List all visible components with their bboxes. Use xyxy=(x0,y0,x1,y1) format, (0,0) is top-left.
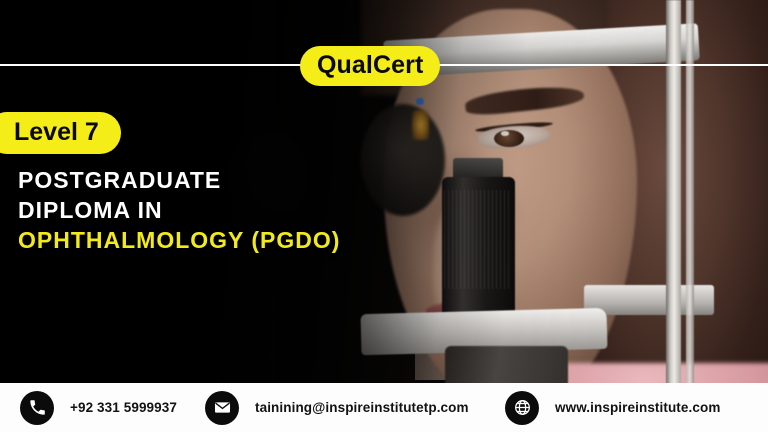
contact-footer: +92 331 5999937 tainining@inspireinstitu… xyxy=(0,383,768,432)
phone-number: +92 331 5999937 xyxy=(70,400,177,415)
email-address: tainining@inspireinstitutetp.com xyxy=(255,400,469,415)
promo-banner: + QualCert Level 7 POSTGRADUATE DIPLOMA … xyxy=(0,0,768,432)
title-line-3: OPHTHALMOLOGY (PGDO) xyxy=(18,226,448,256)
page-title: POSTGRADUATE DIPLOMA IN OPHTHALMOLOGY (P… xyxy=(18,166,448,256)
website-url: www.inspireinstitute.com xyxy=(555,400,720,415)
title-line-1: POSTGRADUATE xyxy=(18,166,448,196)
level-badge: Level 7 xyxy=(0,112,121,154)
title-line-2: DIPLOMA IN xyxy=(18,196,448,226)
contact-website[interactable]: www.inspireinstitute.com xyxy=(505,391,720,425)
qualcert-badge: QualCert xyxy=(300,46,440,86)
phone-icon xyxy=(20,391,54,425)
envelope-icon xyxy=(205,391,239,425)
contact-phone[interactable]: +92 331 5999937 xyxy=(20,391,177,425)
globe-icon xyxy=(505,391,539,425)
contact-email[interactable]: tainining@inspireinstitutetp.com xyxy=(205,391,469,425)
